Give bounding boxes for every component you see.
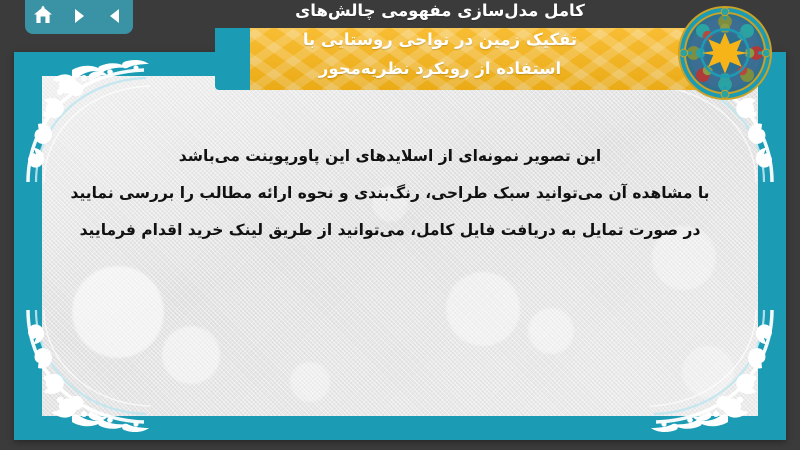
arabesque-corner-bottom-right [636,310,786,440]
bokeh-circle [290,362,330,402]
banner-patterned-body [250,28,720,90]
arabesque-corner-bottom-left [14,310,164,440]
persian-medallion-ornament [676,4,774,102]
home-icon [32,5,54,27]
body-line-2: با مشاهده آن می‌توانید سبک طراحی، رنگ‌بن… [40,175,740,212]
slide-viewer: کامل مدل‌سازی مفهومی چالش‌های تفکیک زمین… [0,0,800,450]
bokeh-circle [528,308,574,354]
body-line-1: این تصویر نمونه‌ای از اسلایدهای این پاور… [40,138,740,175]
navigation-bar [25,0,133,34]
forward-button[interactable] [67,4,91,28]
home-button[interactable] [31,4,55,28]
body-line-3: در صورت تمایل به دریافت فایل کامل، می‌تو… [40,212,740,249]
triangle-left-icon [105,6,125,26]
bokeh-circle [162,326,220,384]
slide-body-text: این تصویر نمونه‌ای از اسلایدهای این پاور… [40,138,740,249]
back-button[interactable] [103,4,127,28]
bokeh-circle [446,272,520,346]
triangle-right-icon [69,6,89,26]
